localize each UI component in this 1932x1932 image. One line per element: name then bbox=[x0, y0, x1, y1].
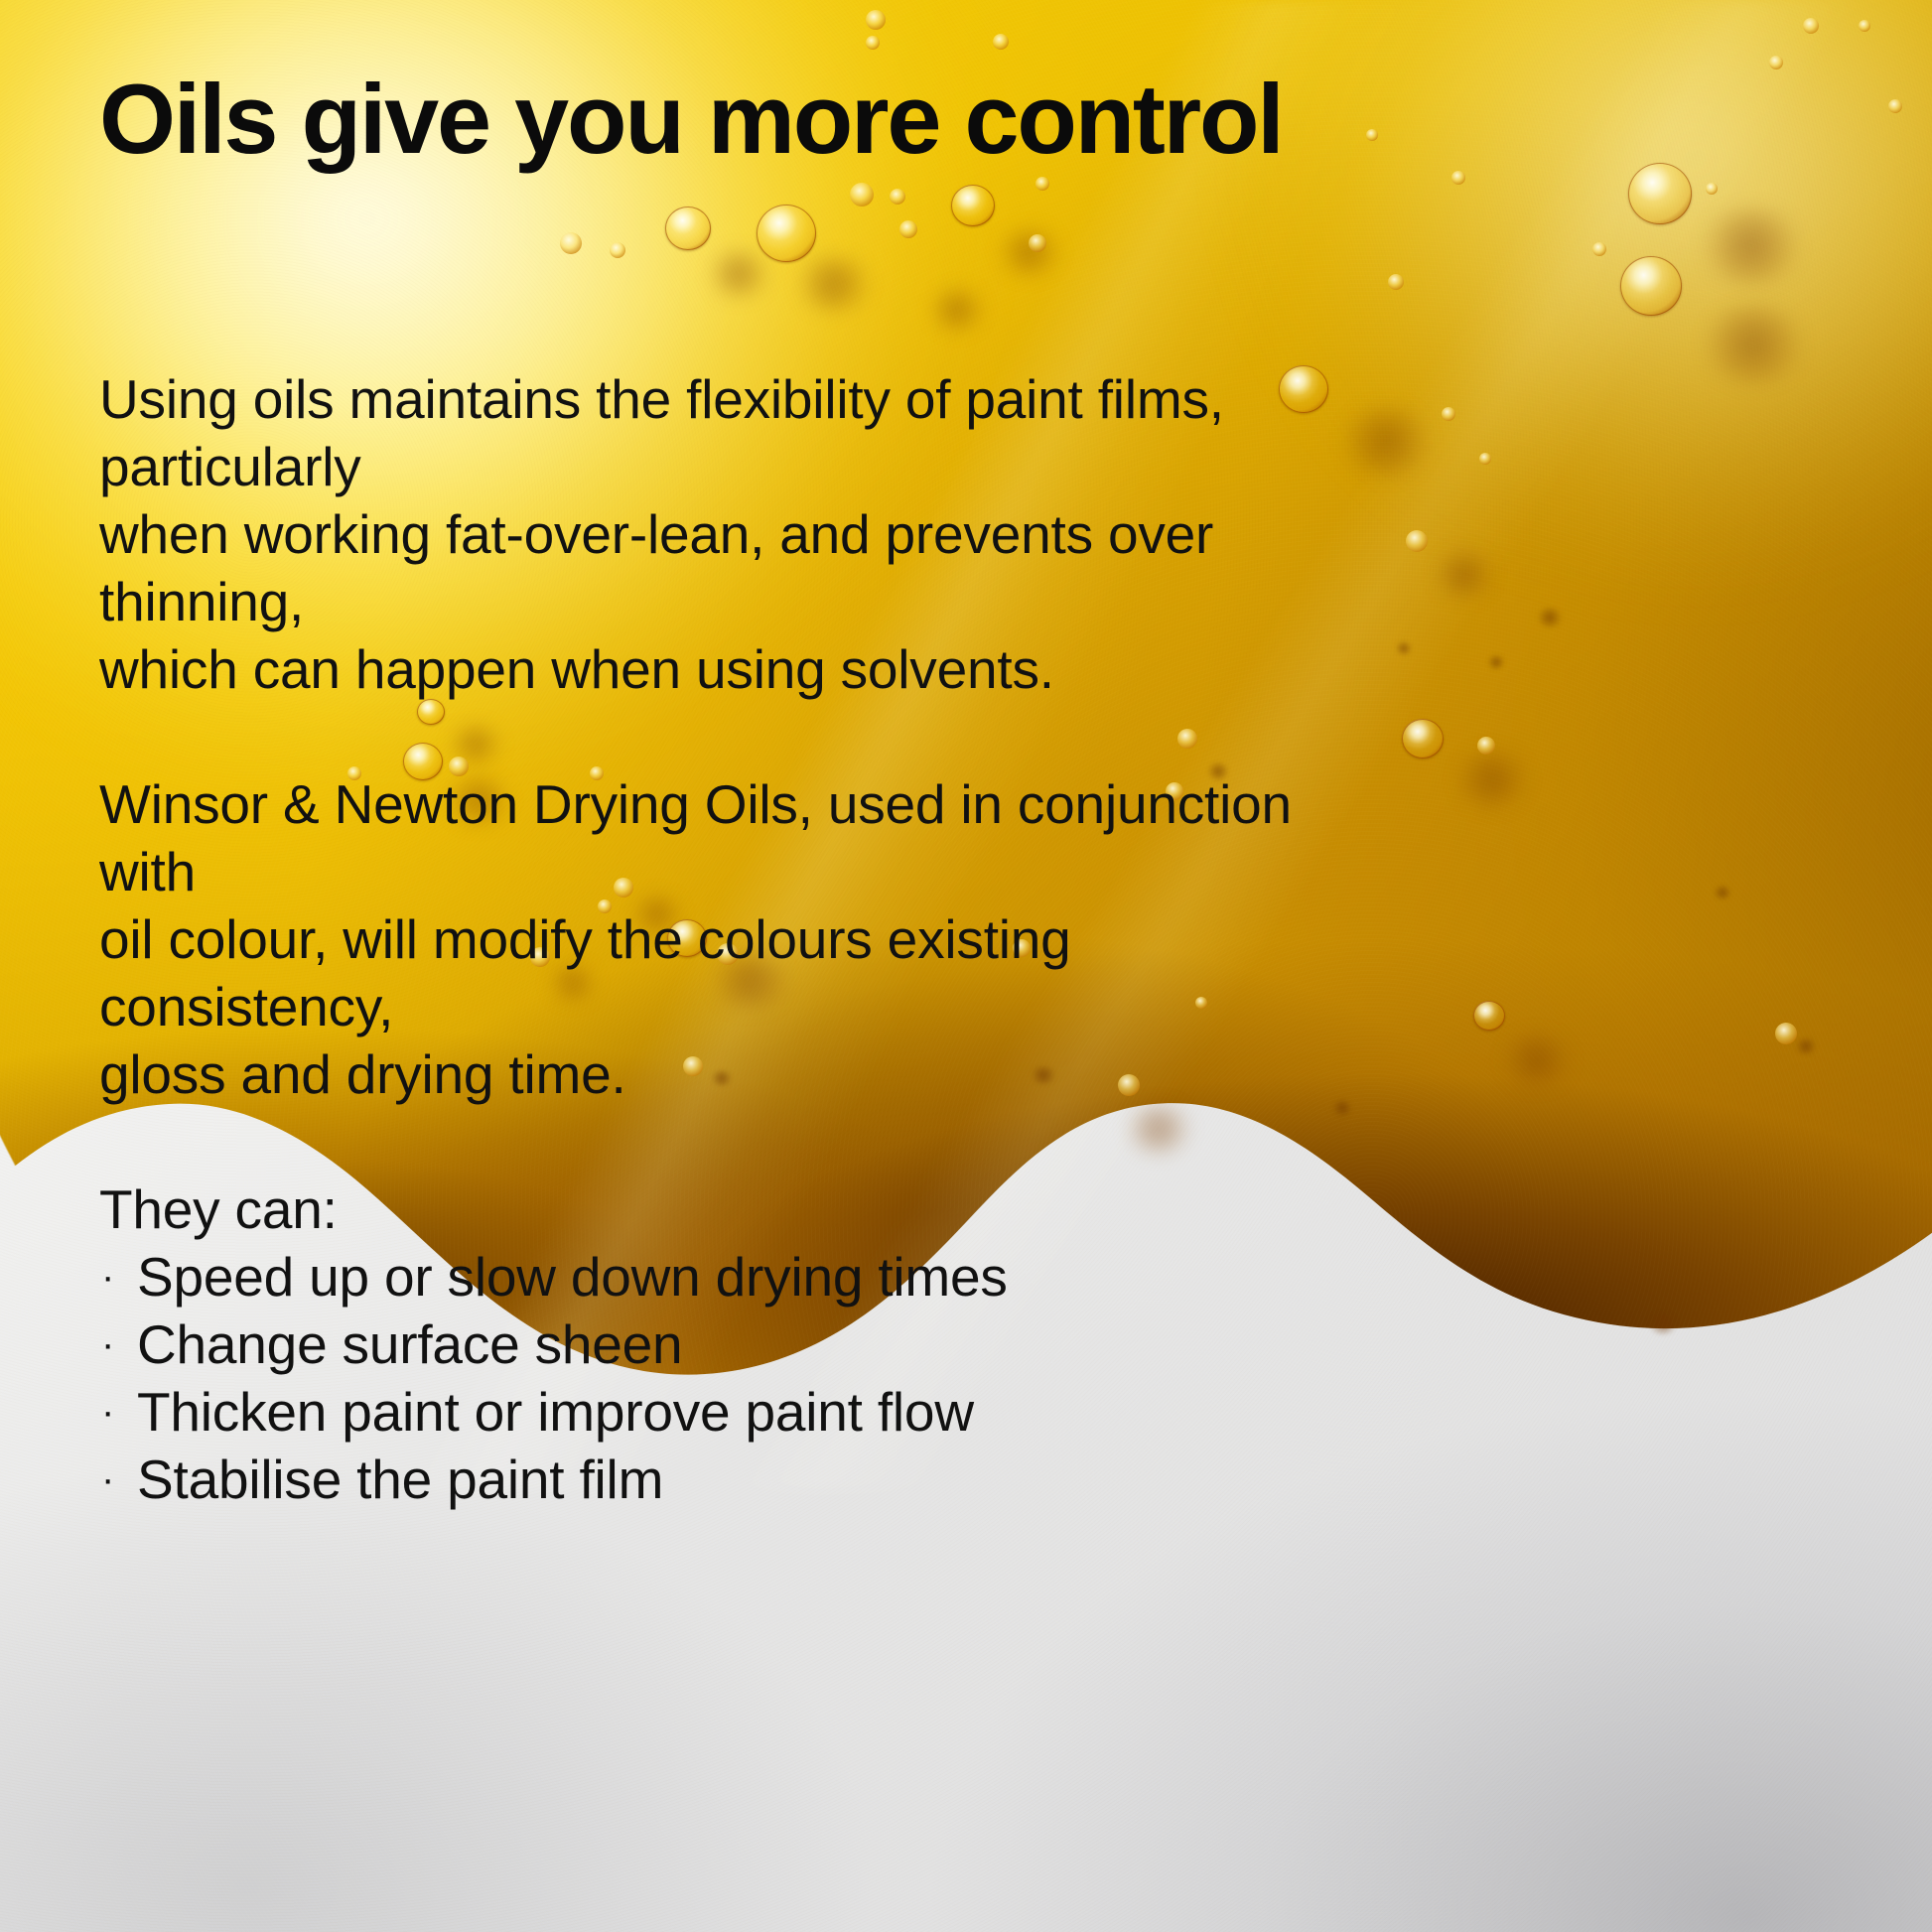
list-intro-label: They can: bbox=[99, 1175, 1350, 1243]
text-content-layer: Oils give you more control Using oils ma… bbox=[0, 0, 1932, 1932]
promo-graphic-canvas: Oils give you more control Using oils ma… bbox=[0, 0, 1932, 1932]
bullet-marker-icon: · bbox=[101, 1311, 114, 1378]
list-item-label: Change surface sheen bbox=[137, 1313, 682, 1375]
page-title: Oils give you more control bbox=[99, 68, 1283, 172]
list-item-label: Speed up or slow down drying times bbox=[137, 1246, 1008, 1308]
body-copy: Using oils maintains the flexibility of … bbox=[99, 365, 1350, 1513]
list-item: · Change surface sheen bbox=[99, 1311, 1350, 1378]
list-item: · Speed up or slow down drying times bbox=[99, 1243, 1350, 1311]
paragraph-1: Using oils maintains the flexibility of … bbox=[99, 365, 1350, 703]
bullet-marker-icon: · bbox=[101, 1446, 114, 1513]
capabilities-block: They can: · Speed up or slow down drying… bbox=[99, 1175, 1350, 1513]
list-item-label: Stabilise the paint film bbox=[137, 1449, 663, 1510]
list-item: · Stabilise the paint film bbox=[99, 1446, 1350, 1513]
capabilities-list: · Speed up or slow down drying times · C… bbox=[99, 1243, 1350, 1513]
bullet-marker-icon: · bbox=[101, 1378, 114, 1446]
bullet-marker-icon: · bbox=[101, 1243, 114, 1311]
list-item-label: Thicken paint or improve paint flow bbox=[137, 1381, 974, 1443]
list-item: · Thicken paint or improve paint flow bbox=[99, 1378, 1350, 1446]
paragraph-2: Winsor & Newton Drying Oils, used in con… bbox=[99, 770, 1350, 1108]
